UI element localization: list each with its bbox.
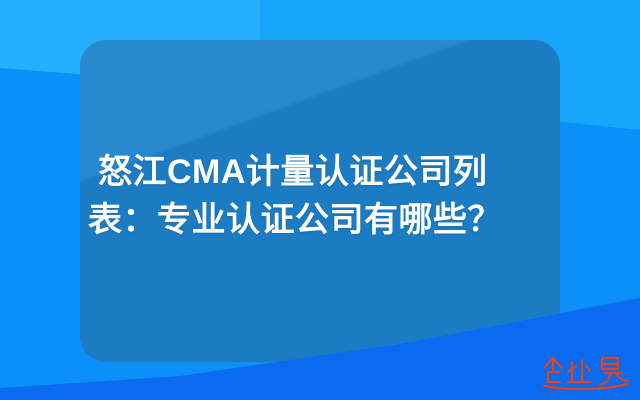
banner-title: 怒江CMA计量认证公司列 表：专业认证公司有哪些？ xyxy=(88,148,558,244)
banner-title-line-2: 表：专业认证公司有哪些？ xyxy=(88,196,558,244)
promo-banner: 怒江CMA计量认证公司列 表：专业认证公司有哪些？ QIYEYI xyxy=(0,0,640,400)
watermark-caption: QIYEYI xyxy=(546,389,561,394)
watermark-logo: QIYEYI xyxy=(538,350,634,398)
banner-title-line-1: 怒江CMA计量认证公司列 xyxy=(88,148,558,196)
